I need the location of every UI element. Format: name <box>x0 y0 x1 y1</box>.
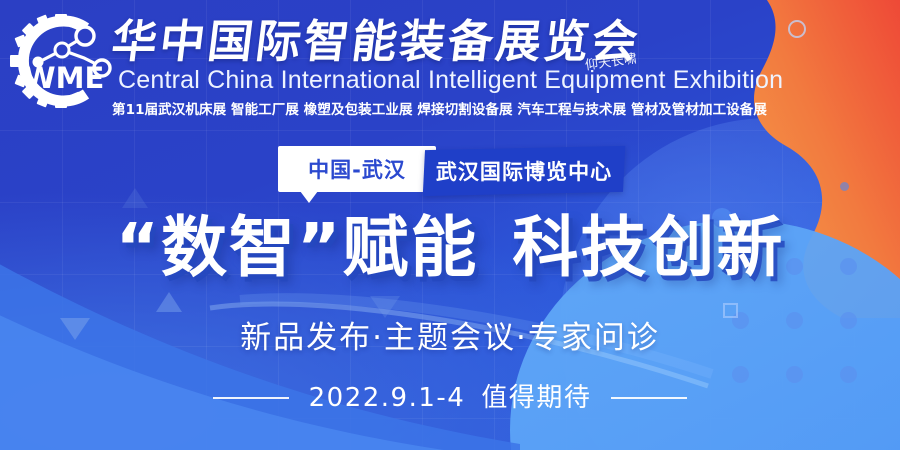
wme-gear-logo-icon: WME <box>8 12 120 110</box>
headline-part-2: 科技创新 <box>512 209 784 286</box>
dateline-rule-left <box>213 397 289 399</box>
triangle-up-shape <box>156 292 182 312</box>
dateline-text: 2022.9.1-4值得期待 <box>309 381 592 415</box>
venue-tag-label: 武汉国际博览中心 <box>424 148 624 194</box>
date-line: 2022.9.1-4值得期待 <box>0 378 900 418</box>
subline: 新品发布·主题会议·专家问诊 <box>0 316 900 360</box>
headline-part-1: “数智”赋能 <box>116 209 479 286</box>
title-english: Central China International Intelligent … <box>118 66 658 94</box>
title-chinese: 华中国际智能装备展览会 <box>109 16 635 68</box>
location-tag-row: 中国-武汉 武汉国际博览中心 <box>0 146 900 202</box>
city-tag: 中国-武汉 <box>278 146 436 192</box>
headline: “数智”赋能科技创新 <box>0 206 900 290</box>
city-tag-label: 中国-武汉 <box>278 146 436 192</box>
svg-text:WME: WME <box>24 61 105 95</box>
event-date: 2022.9.1-4 <box>309 383 466 413</box>
venue-tag: 武汉国际博览中心 <box>423 146 626 196</box>
dateline-rule-right <box>611 397 687 399</box>
exhibition-banner: WME 华中国际智能装备展览会 仰天长啸 Central China Inter… <box>0 0 900 450</box>
sub-exhibition-list: 第11届武汉机床展 智能工厂展 橡塑及包装工业展 焊接切割设备展 汽车工程与技术… <box>112 101 660 119</box>
city-tag-tail <box>300 191 318 203</box>
event-tagline: 值得期待 <box>481 383 591 413</box>
banner-header: WME 华中国际智能装备展览会 仰天长啸 Central China Inter… <box>0 0 900 130</box>
triangle-down-shape <box>370 296 400 318</box>
